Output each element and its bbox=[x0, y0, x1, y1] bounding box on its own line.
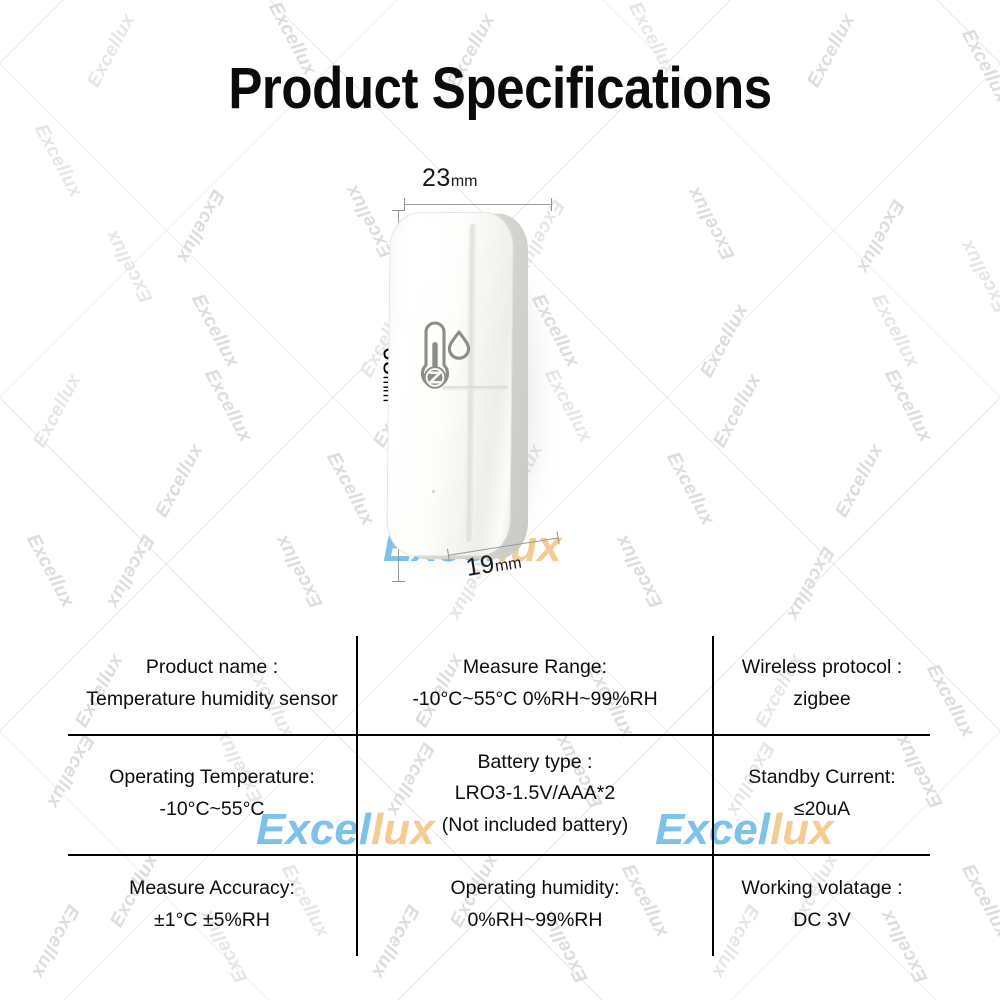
product-image-figure: 23mm 68mm bbox=[300, 160, 700, 610]
table-cell-battery-type: Battery type : LRO3-1.5V/AAA*2 (Not incl… bbox=[358, 736, 714, 854]
table-cell-product-name: Product name : Temperature humidity sens… bbox=[68, 636, 358, 734]
cell-value: -10°C~55°C 0%RH~99%RH bbox=[412, 684, 657, 716]
cell-label: Working volatage : bbox=[741, 873, 902, 905]
watermark-text: Excellux bbox=[21, 531, 78, 612]
cell-label: Product name : bbox=[146, 652, 278, 684]
watermark-text: Excellux bbox=[151, 441, 208, 522]
cell-value: 0%RH~99%RH bbox=[468, 905, 603, 937]
table-cell-standby-current: Standby Current: ≤20uA bbox=[714, 736, 930, 854]
watermark-text: Excellux bbox=[956, 236, 1000, 317]
dimension-width-cap-right bbox=[551, 198, 552, 211]
cell-value-secondary: (Not included battery) bbox=[442, 810, 628, 842]
cell-label: Wireless protocol : bbox=[742, 652, 902, 684]
cell-value: Temperature humidity sensor bbox=[86, 684, 337, 716]
cell-label: Measure Accuracy: bbox=[129, 873, 295, 905]
device-render bbox=[388, 208, 548, 573]
dimension-width-line bbox=[404, 204, 552, 205]
specification-table: Product name : Temperature humidity sens… bbox=[68, 636, 930, 956]
cell-value: LRO3-1.5V/AAA*2 bbox=[455, 778, 615, 810]
product-spec-page: ExcelluxExcelluxExcelluxExcelluxExcellux… bbox=[0, 0, 1000, 1000]
cell-label: Standby Current: bbox=[748, 762, 895, 794]
table-row: Operating Temperature: -10°C~55°C Batter… bbox=[68, 736, 930, 856]
watermark-text: Excellux bbox=[29, 371, 86, 452]
watermark-text: Excellux bbox=[186, 291, 243, 372]
watermark-text: Excellux bbox=[956, 26, 1000, 107]
watermark-text: Excellux bbox=[709, 371, 766, 452]
table-row: Product name : Temperature humidity sens… bbox=[68, 636, 930, 736]
watermark-text: Excellux bbox=[851, 196, 908, 277]
dimension-width-value: 23 bbox=[422, 164, 451, 192]
table-cell-working-voltage: Working volatage : DC 3V bbox=[714, 856, 930, 956]
table-cell-wireless-protocol: Wireless protocol : zigbee bbox=[714, 636, 930, 734]
cell-value: ≤20uA bbox=[794, 794, 850, 826]
watermark-text: Excellux bbox=[101, 226, 158, 307]
cell-value: -10°C~55°C bbox=[159, 794, 264, 826]
watermark-text: Excellux bbox=[956, 861, 1000, 942]
table-cell-measure-range: Measure Range: -10°C~55°C 0%RH~99%RH bbox=[358, 636, 714, 734]
cell-value: ±1°C ±5%RH bbox=[154, 905, 270, 937]
watermark-text: Excellux bbox=[199, 366, 256, 447]
dimension-width-label: 23mm bbox=[422, 164, 477, 193]
watermark-text: Excellux bbox=[101, 531, 158, 612]
cell-label: Operating Temperature: bbox=[109, 762, 315, 794]
table-row: Measure Accuracy: ±1°C ±5%RH Operating h… bbox=[68, 856, 930, 956]
watermark-text: Excellux bbox=[171, 186, 228, 267]
watermark-text: Excellux bbox=[696, 301, 753, 382]
watermark-text: Excellux bbox=[866, 291, 923, 372]
page-title: Product Specifications bbox=[60, 55, 940, 122]
dimension-width-unit: mm bbox=[451, 173, 478, 190]
watermark-text: Excellux bbox=[29, 121, 86, 202]
dimension-depth-cap-right bbox=[557, 531, 560, 544]
dimension-height-cap-bottom bbox=[392, 581, 405, 582]
thermometer-droplet-zigbee-icon bbox=[412, 320, 474, 402]
dimension-depth-unit: mm bbox=[494, 555, 523, 576]
cell-label: Operating humidity: bbox=[450, 873, 619, 905]
watermark-text: Excellux bbox=[831, 441, 888, 522]
cell-value: DC 3V bbox=[793, 905, 850, 937]
cell-value: zigbee bbox=[793, 684, 850, 716]
device-pinhole bbox=[432, 490, 435, 493]
table-cell-operating-humidity: Operating humidity: 0%RH~99%RH bbox=[358, 856, 714, 956]
watermark-text: Excellux bbox=[879, 366, 936, 447]
table-cell-measure-accuracy: Measure Accuracy: ±1°C ±5%RH bbox=[68, 856, 358, 956]
cell-label: Measure Range: bbox=[463, 652, 607, 684]
dimension-depth-value: 19 bbox=[464, 550, 497, 582]
watermark-text: Excellux bbox=[781, 543, 838, 624]
cell-label: Battery type : bbox=[478, 747, 593, 779]
table-cell-operating-temperature: Operating Temperature: -10°C~55°C bbox=[68, 736, 358, 854]
